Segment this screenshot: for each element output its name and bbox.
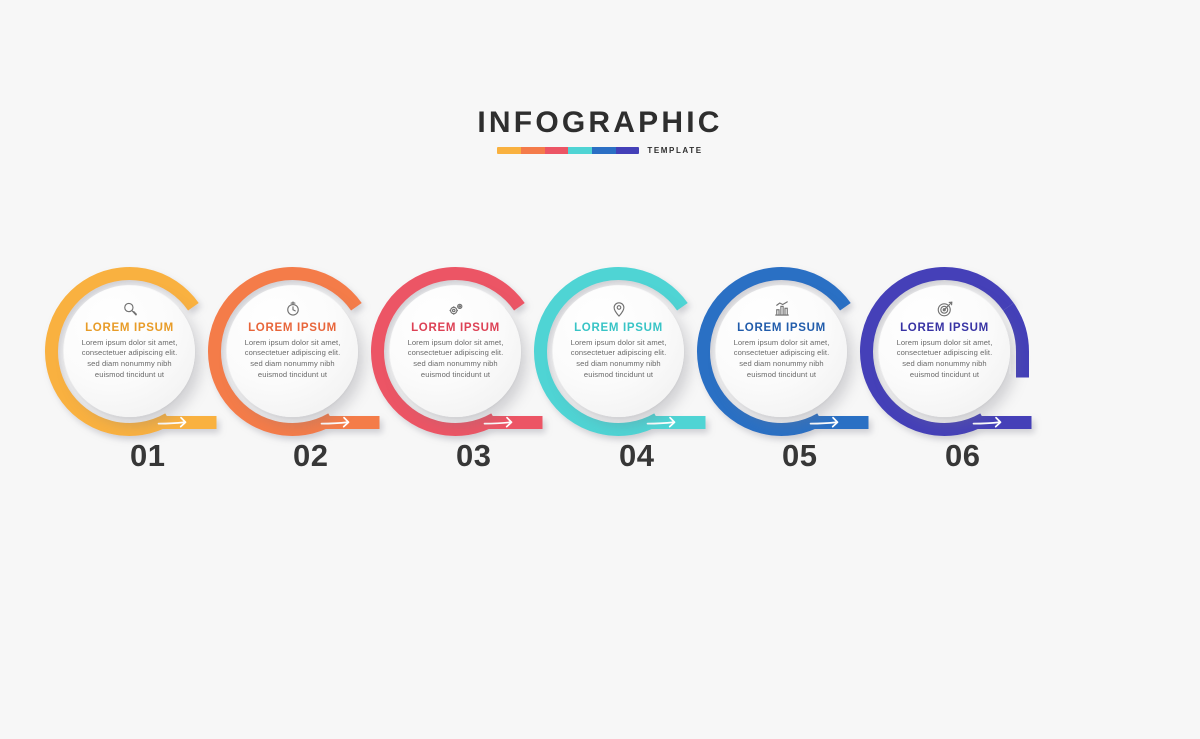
target-icon [936, 300, 954, 318]
step-heading: LOREM IPSUM [900, 322, 989, 335]
step-heading: LOREM IPSUM [248, 322, 337, 335]
header: INFOGRAPHIC TEMPLATE [0, 108, 1200, 159]
step-body-text: Lorem ipsum dolor sit amet, consectetuer… [893, 338, 997, 381]
color-legend-segment-2 [521, 147, 545, 154]
step-number: 01 [130, 440, 165, 471]
page-title: INFOGRAPHIC [0, 108, 1200, 138]
step-heading: LOREM IPSUM [737, 322, 826, 335]
color-legend-segment-1 [497, 147, 521, 154]
steps-container: LOREM IPSUMLorem ipsum dolor sit amet, c… [0, 250, 1200, 500]
step-number: 05 [782, 440, 817, 471]
color-legend-segment-6 [616, 147, 640, 154]
page-subtitle: TEMPLATE [647, 146, 702, 155]
step-card[interactable]: LOREM IPSUMLorem ipsum dolor sit amet, c… [553, 286, 684, 417]
step-body-text: Lorem ipsum dolor sit amet, consectetuer… [730, 338, 834, 381]
step-heading: LOREM IPSUM [574, 322, 663, 335]
color-legend-segment-5 [592, 147, 616, 154]
step-body-text: Lorem ipsum dolor sit amet, consectetuer… [404, 338, 508, 381]
step-number: 04 [619, 440, 654, 471]
color-legend-bar [497, 147, 639, 154]
step-body-text: Lorem ipsum dolor sit amet, consectetuer… [78, 338, 182, 381]
step-card[interactable]: LOREM IPSUMLorem ipsum dolor sit amet, c… [390, 286, 521, 417]
step-card[interactable]: LOREM IPSUMLorem ipsum dolor sit amet, c… [879, 286, 1010, 417]
step-body-text: Lorem ipsum dolor sit amet, consectetuer… [567, 338, 671, 381]
step-number: 06 [945, 440, 980, 471]
step-heading: LOREM IPSUM [85, 322, 174, 335]
bar-chart-icon [773, 300, 791, 318]
location-pin-icon [610, 300, 628, 318]
magnifier-icon [121, 300, 139, 318]
step-card[interactable]: LOREM IPSUMLorem ipsum dolor sit amet, c… [227, 286, 358, 417]
step-body-text: Lorem ipsum dolor sit amet, consectetuer… [241, 338, 345, 381]
step-card[interactable]: LOREM IPSUMLorem ipsum dolor sit amet, c… [64, 286, 195, 417]
gears-icon [447, 300, 465, 318]
step-number: 03 [456, 440, 491, 471]
step-card[interactable]: LOREM IPSUMLorem ipsum dolor sit amet, c… [716, 286, 847, 417]
color-legend-segment-3 [545, 147, 569, 154]
step-number: 02 [293, 440, 328, 471]
clock-icon [284, 300, 302, 318]
step-heading: LOREM IPSUM [411, 322, 500, 335]
color-legend-segment-4 [568, 147, 592, 154]
step-06[interactable]: LOREM IPSUMLorem ipsum dolor sit amet, c… [837, 250, 1077, 480]
subtitle-row: TEMPLATE [497, 146, 702, 155]
